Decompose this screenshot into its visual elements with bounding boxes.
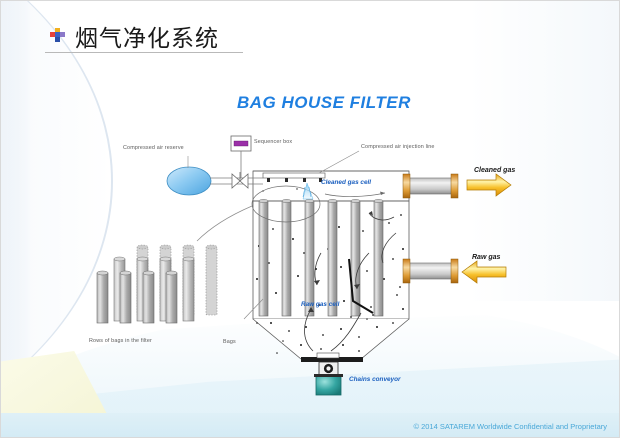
label-rows-of-bags: Rows of bags in the filter [89,338,152,344]
bag-house-filter-diagram: BAG HOUSE FILTER [1,1,620,438]
presentation-slide: 烟气净化系统 BAG HOUSE FILTER [0,0,620,438]
compressed-air-reserve-tank [167,167,211,195]
label-cleaned-gas: Cleaned gas [474,167,515,174]
label-cleaned-gas-cell: Cleaned gas cell [321,179,371,186]
diagram-svg [1,1,620,438]
raw-gas-duct [403,259,458,283]
bag-rows-illustration [97,245,217,323]
sequencer-box [231,136,251,178]
label-raw-gas: Raw gas [472,254,500,261]
air-line-valve [232,172,248,188]
label-bags: Bags [223,339,236,345]
label-raw-gas-cell: Raw gas cell [301,301,339,308]
label-compressed-air-injection-line: Compressed air injection line [361,144,435,150]
cleaned-gas-arrow [467,174,511,196]
raw-gas-arrow [462,261,506,283]
label-sequencer-box: Sequencer box [254,139,292,145]
label-chains-conveyor: Chains conveyor [349,376,401,383]
cleaned-gas-duct [403,174,458,198]
leader-rows-of-bags [197,206,252,241]
leader-air-injection-line [319,151,359,173]
chains-conveyor [301,353,363,395]
label-compressed-air-reserve: Compressed air reserve [123,145,184,151]
footer-copyright: © 2014 SATAREM Worldwide Confidential an… [413,422,607,431]
